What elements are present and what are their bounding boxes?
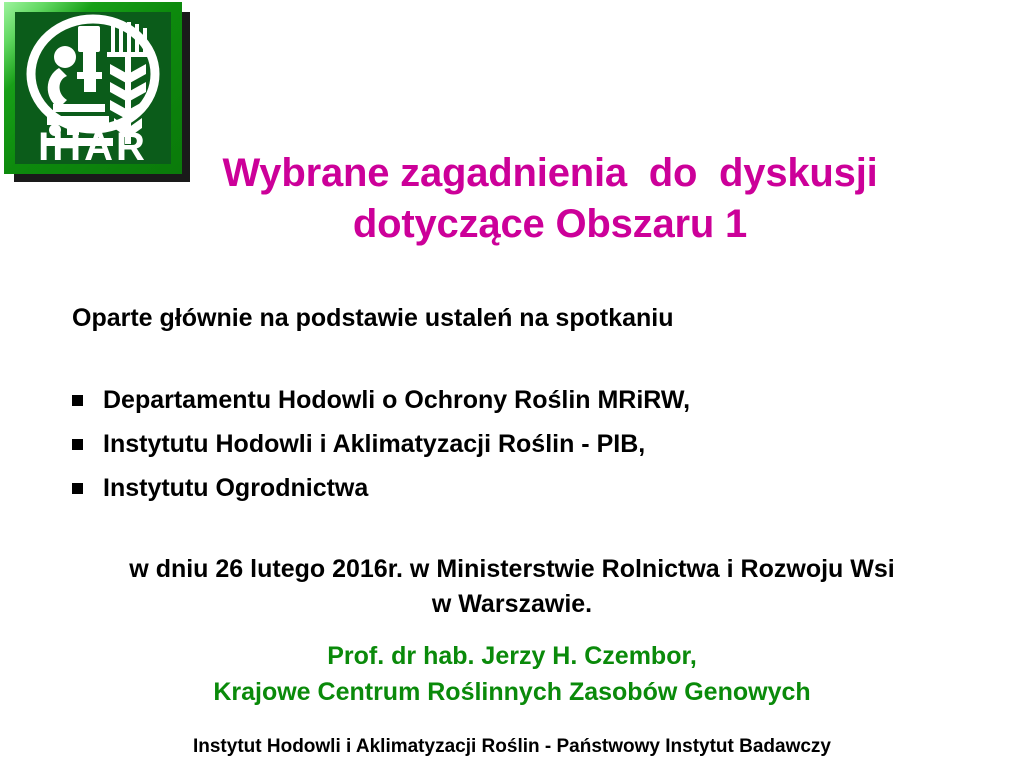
meeting-line-1: w dniu 26 lutego 2016r. w Ministerstwie … [62, 552, 962, 587]
square-bullet-icon [72, 439, 83, 450]
list-item: Departamentu Hodowli o Ochrony Roślin MR… [72, 384, 952, 420]
slide-footer: Instytut Hodowli i Aklimatyzacji Roślin … [62, 736, 962, 759]
presenter-name: Prof. dr hab. Jerzy H. Czembor, [112, 638, 912, 674]
list-item: Instytutu Hodowli i Aklimatyzacji Roślin… [72, 428, 952, 464]
square-bullet-icon [72, 395, 83, 406]
meeting-info: w dniu 26 lutego 2016r. w Ministerstwie … [62, 552, 962, 622]
logo-emblem: IHAR [15, 12, 171, 164]
bullet-list: Departamentu Hodowli o Ochrony Roślin MR… [72, 384, 952, 516]
meeting-line-2: w Warszawie. [62, 587, 962, 622]
lead-text: Oparte głównie na podstawie ustaleń na s… [72, 303, 674, 333]
presenter-info: Prof. dr hab. Jerzy H. Czembor, Krajowe … [112, 638, 912, 711]
title-line-2: dotyczące Obszaru 1 [140, 199, 960, 250]
list-item-label: Instytutu Hodowli i Aklimatyzacji Roślin… [103, 428, 645, 462]
presenter-affiliation: Krajowe Centrum Roślinnych Zasobów Genow… [112, 674, 912, 710]
footer-institute-name: Instytut Hodowli i Aklimatyzacji Roślin … [62, 736, 962, 759]
svg-text:IHAR: IHAR [38, 125, 148, 164]
list-item-label: Departamentu Hodowli o Ochrony Roślin MR… [103, 384, 690, 418]
ihar-logo: IHAR [4, 2, 192, 184]
logo-wordmark-ihar: IHAR [38, 125, 148, 164]
slide-title: Wybrane zagadnienia do dyskusji dotycząc… [140, 148, 960, 250]
list-item-label: Instytutu Ogrodnictwa [103, 472, 368, 506]
square-bullet-icon [72, 483, 83, 494]
presentation-slide: IHAR Wybrane zagadnienia do dyskusji dot… [0, 0, 1024, 768]
list-item: Instytutu Ogrodnictwa [72, 472, 952, 508]
title-line-1: Wybrane zagadnienia do dyskusji [140, 148, 960, 199]
